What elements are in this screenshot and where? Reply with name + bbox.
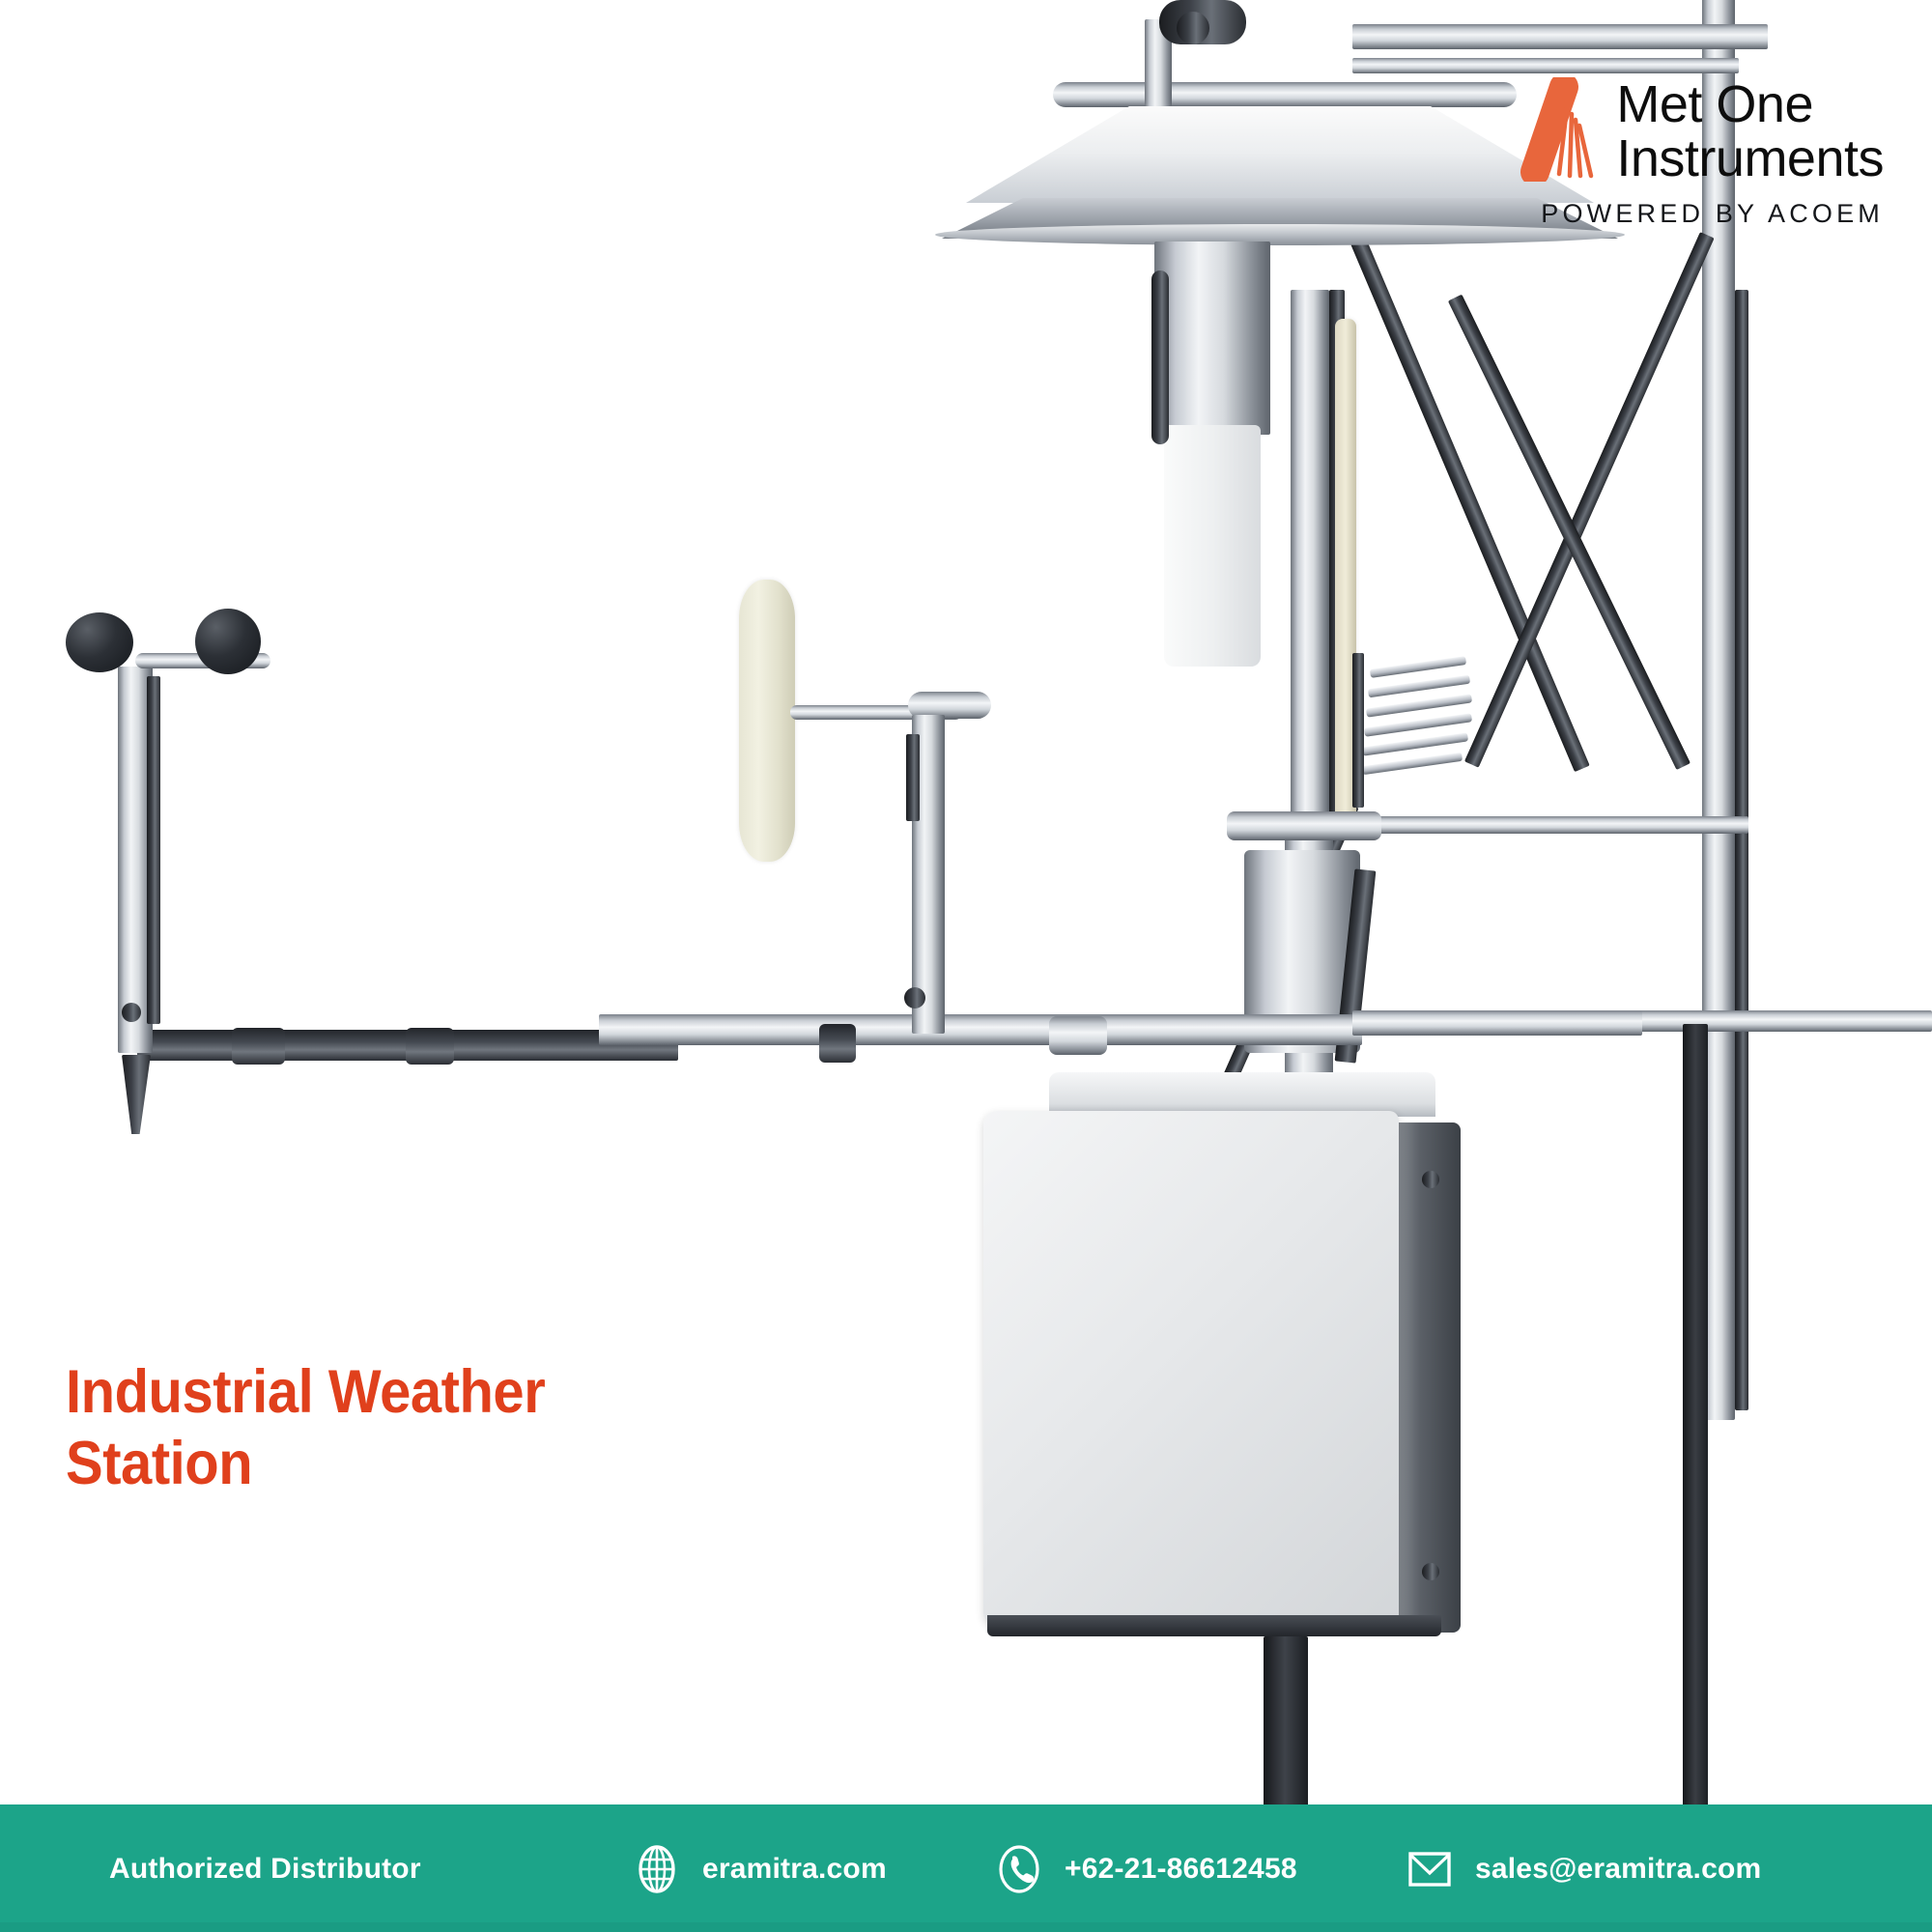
louver-plate-3 bbox=[1366, 694, 1472, 717]
wind-vane-pole-joint bbox=[906, 734, 920, 821]
brand-name-line2: Instruments bbox=[1616, 131, 1884, 185]
website-text: eramitra.com bbox=[702, 1853, 887, 1886]
tower-crossarm-top bbox=[1352, 24, 1768, 49]
anemometer-pole-shadow bbox=[147, 676, 160, 1024]
tower-crossarm-top-2 bbox=[1352, 58, 1739, 73]
footer-bottom-edge bbox=[0, 1922, 1932, 1932]
footer-bar: Authorized Distributor eramitra.com bbox=[0, 1804, 1932, 1932]
enclosure-base bbox=[987, 1615, 1441, 1636]
anemometer-base-spike bbox=[122, 1055, 151, 1134]
louver-plate-6 bbox=[1362, 753, 1463, 775]
louver-shield-post bbox=[1352, 653, 1364, 808]
tower-lower-leg bbox=[1683, 1024, 1708, 1804]
page-title: Industrial Weather Station bbox=[66, 1356, 545, 1499]
footer-email[interactable]: sales@eramitra.com bbox=[1406, 1845, 1761, 1893]
anemometer-base-bolt bbox=[122, 1003, 141, 1022]
wind-vane-tail bbox=[739, 580, 795, 862]
enclosure-door bbox=[983, 1111, 1399, 1623]
enclosure-side-panel bbox=[1393, 1122, 1461, 1633]
anemometer-cup-left bbox=[66, 612, 133, 672]
center-mast-upper bbox=[1291, 290, 1329, 831]
crossarm-center bbox=[1352, 1010, 1642, 1036]
brand-logo: Met One Instruments POWERED BY ACOEM bbox=[1478, 77, 1884, 229]
phone-text: +62-21-86612458 bbox=[1065, 1853, 1297, 1886]
brand-tagline: POWERED BY ACOEM bbox=[1478, 199, 1884, 229]
junction-box-lid bbox=[1227, 811, 1381, 840]
sensor-white-tube bbox=[1164, 425, 1261, 667]
crossarm-coupler-1 bbox=[232, 1028, 285, 1065]
crossarm-coupler-2 bbox=[406, 1028, 454, 1065]
mast-bottom bbox=[1264, 1636, 1308, 1804]
authorized-distributor-label: Authorized Distributor bbox=[109, 1853, 421, 1886]
product-photo bbox=[0, 0, 1932, 1804]
louver-plate-5 bbox=[1362, 732, 1468, 755]
footer-website[interactable]: eramitra.com bbox=[633, 1845, 887, 1893]
page-title-line2: Station bbox=[66, 1428, 545, 1499]
enclosure-latch-bottom bbox=[1422, 1563, 1439, 1580]
louver-plate-2 bbox=[1368, 675, 1470, 698]
sensor-housing bbox=[1154, 241, 1270, 435]
envelope-icon bbox=[1406, 1845, 1454, 1893]
wind-vane-base-bolt bbox=[904, 987, 925, 1009]
tower-brace-2 bbox=[1464, 232, 1715, 768]
enclosure-latch-top bbox=[1422, 1171, 1439, 1188]
brand-name-line1: Met One bbox=[1616, 77, 1884, 131]
footer-phone[interactable]: +62-21-86612458 bbox=[995, 1845, 1297, 1893]
crossarm-coupler-4 bbox=[1049, 1016, 1107, 1055]
anemometer-cup-right bbox=[195, 609, 261, 674]
phone-icon bbox=[995, 1845, 1043, 1893]
crossarm-coupler-3 bbox=[819, 1024, 856, 1063]
poster-page: Met One Instruments POWERED BY ACOEM Ind… bbox=[0, 0, 1932, 1932]
louver-plate-1 bbox=[1370, 656, 1466, 678]
email-text: sales@eramitra.com bbox=[1475, 1853, 1761, 1886]
globe-icon bbox=[633, 1845, 681, 1893]
shield-mount-bolt bbox=[1177, 12, 1209, 44]
sensor-cable bbox=[1151, 270, 1169, 444]
shield-top-bar bbox=[1053, 82, 1517, 107]
crossarm-left-bright bbox=[599, 1014, 1362, 1045]
met-one-a-logo-icon bbox=[1514, 77, 1603, 182]
page-title-line1: Industrial Weather bbox=[66, 1356, 545, 1428]
tower-leg-shadow bbox=[1735, 290, 1748, 1410]
